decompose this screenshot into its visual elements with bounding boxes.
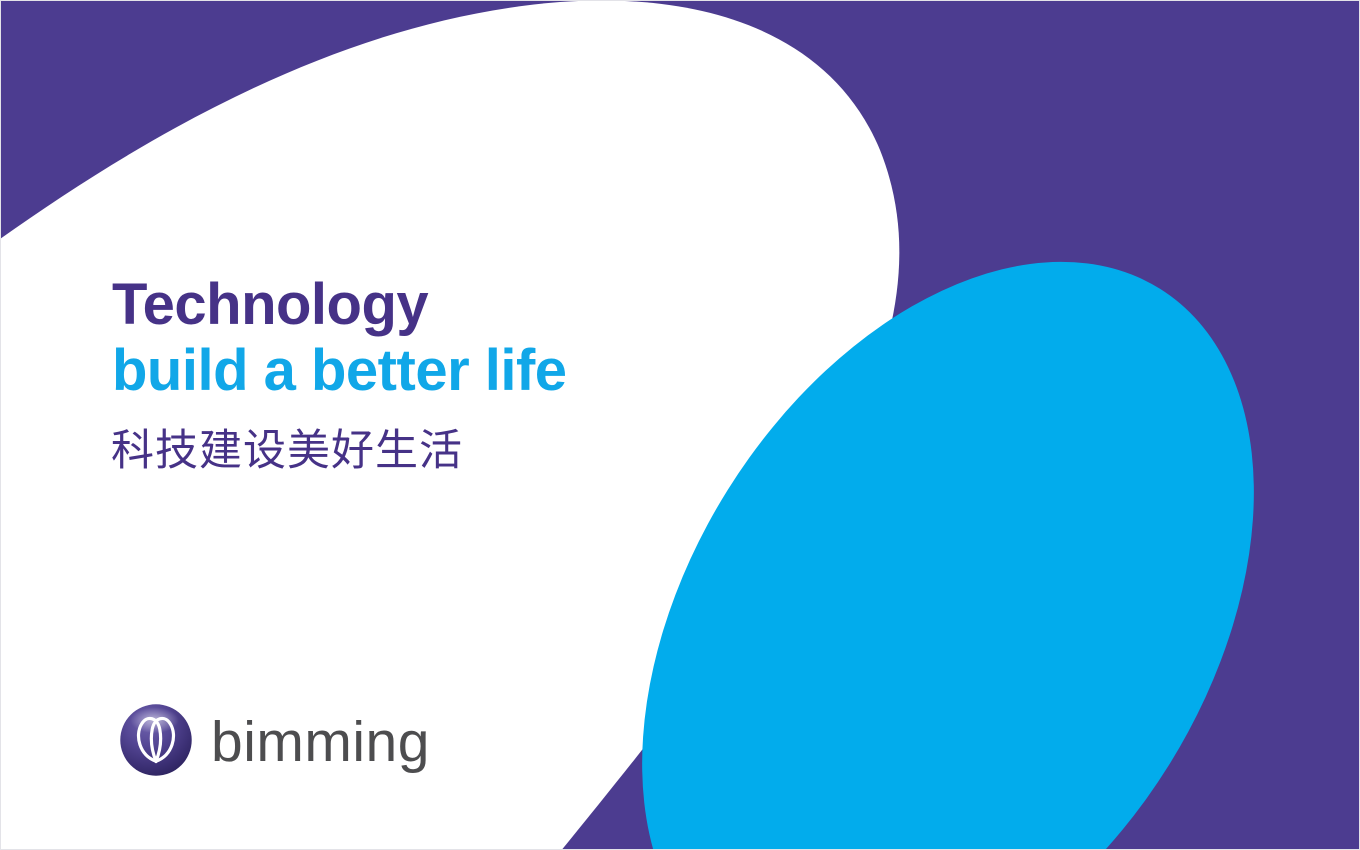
logo-lockup: bimming (118, 702, 430, 778)
logo-wordmark: bimming (211, 714, 430, 771)
title-slide: Technology build a better life 科技建设美好生活 (0, 0, 1360, 850)
headline-block: Technology build a better life (112, 272, 832, 404)
headline-line-secondary: build a better life (112, 338, 832, 404)
bimming-loop-sphere-icon (118, 702, 194, 778)
headline-line-primary: Technology (112, 272, 832, 338)
subtitle-chinese: 科技建设美好生活 (111, 426, 463, 476)
